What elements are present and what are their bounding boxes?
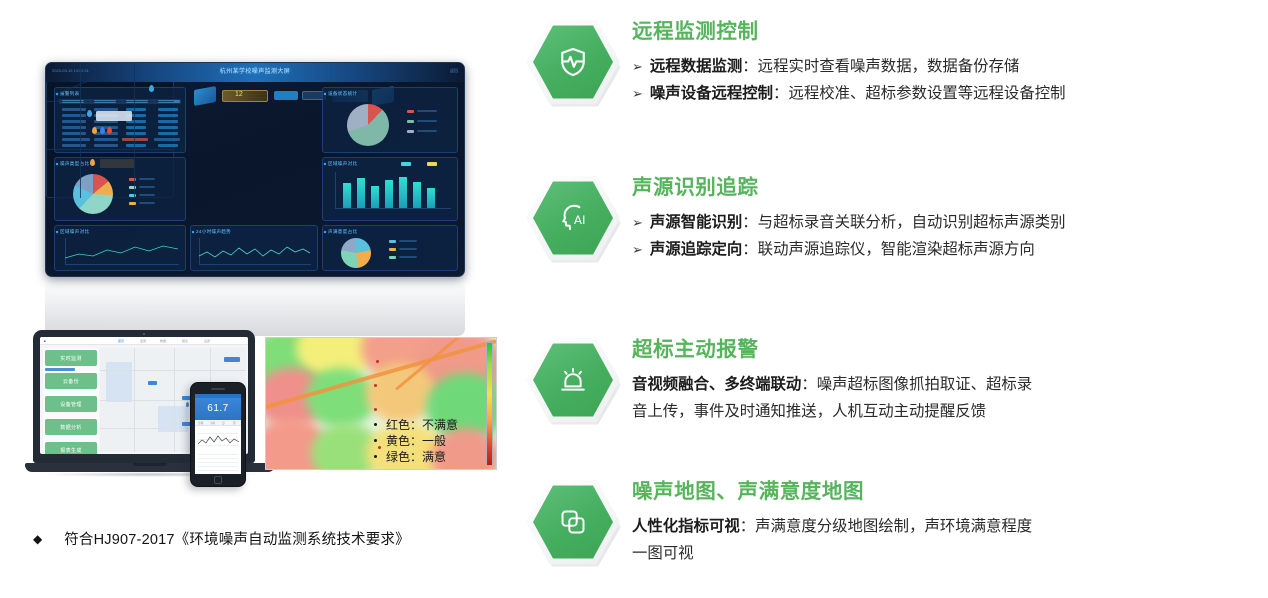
feature-remote-monitoring: 远程监测控制 ➢远程数据监测：远程实时查看噪声数据，数据备份存储 ➢噪声设备远程…: [520, 12, 1268, 118]
sidebar-progress-bar: [45, 368, 75, 371]
feature-line: 一图可视: [632, 540, 1268, 567]
panel-line-chart-left-title: 区域噪声对比: [60, 229, 89, 235]
panel-satisfaction-pie-title: 声满意度占比: [328, 229, 357, 235]
phone-data-table: [198, 452, 238, 472]
webapp-nav-3[interactable]: 报表: [182, 339, 188, 343]
diamond-bullet-icon: ◆: [33, 532, 42, 546]
phone-mockup[interactable]: 61.7 分钟 小时 日 月: [190, 382, 246, 487]
arrow-bullet-icon: ➢: [632, 60, 643, 75]
feature-line: ➢声源智能识别：与超标录音关联分析，自动识别超标声源类别: [632, 209, 1268, 236]
feature-icon-hex-3: [520, 330, 632, 436]
pie-chart-satisfaction: [341, 238, 371, 268]
panel-bar-chart-title: 区域噪声对比: [328, 161, 357, 167]
ai-head-icon: AI: [556, 201, 590, 235]
map-action-button[interactable]: [224, 357, 240, 362]
legend-row: 黄色：一般: [374, 432, 458, 448]
feature-line-text: 噪声超标图像抓拍取证、超标录: [817, 375, 1032, 393]
feature-icon-hex-1: [520, 12, 632, 118]
map-tooltip: [96, 111, 132, 121]
feature-line: 音视频融合、多终端联动：噪声超标图像抓拍取证、超标录: [632, 371, 1268, 398]
map-marker[interactable]: [148, 381, 157, 385]
feature-line-sep: ：: [742, 213, 757, 231]
feature-line-sep: ：: [742, 240, 757, 258]
header-button-primary[interactable]: [274, 91, 298, 100]
header-stat-pill: [222, 90, 268, 102]
sound-satisfaction-heatmap[interactable]: 红色：不满意 黄色：一般 绿色：满意: [265, 337, 497, 470]
noise-monitoring-dashboard[interactable]: 2023-03-15 13:02:11 返回 杭州某学校噪声监测大屏 报警列表: [45, 62, 465, 277]
webapp-nav-4[interactable]: 设置: [204, 339, 210, 343]
left-visuals-column: 2023-03-15 13:02:11 返回 杭州某学校噪声监测大屏 报警列表: [0, 0, 520, 598]
panel-alarm-list-title: 报警列表: [60, 91, 80, 97]
feature-line-label: 声源智能识别: [650, 213, 742, 231]
feature-icon-hex-4: [520, 472, 632, 578]
phone-tabs[interactable]: 分钟 小时 日 月: [195, 420, 241, 426]
laptop-camera-icon: [143, 333, 145, 335]
arrow-bullet-icon: ➢: [632, 87, 643, 102]
panel-realtime-trend: 24小时噪声趋势: [190, 225, 318, 271]
feature-line: 人性化指标可视：声满意度分级地图绘制，声环境满意程度: [632, 513, 1268, 540]
feature-line-sep: ：: [801, 375, 816, 393]
webapp-nav-2[interactable]: 数据: [160, 339, 166, 343]
feature-line-sep: ：: [740, 517, 755, 535]
feature-line-text: 一图可视: [632, 544, 694, 562]
feature-line-label: 噪声设备远程控制: [650, 84, 773, 102]
feature-line: ➢声源追踪定向：联动声源追踪仪，智能渲染超标声源方向: [632, 236, 1268, 263]
header-stat-value: 12: [235, 91, 243, 98]
feature-line-text: 音上传，事件及时通知推送，人机互动主动提醒反馈: [632, 402, 986, 420]
legend-bullet-icon: [374, 455, 377, 458]
phone-tab-2[interactable]: 日: [222, 421, 225, 425]
feature-icon-hex-2: AI: [520, 168, 632, 274]
feature-exceedance-alarm: 超标主动报警 音视频融合、多终端联动：噪声超标图像抓拍取证、超标录 音上传，事件…: [520, 330, 1268, 436]
arrow-bullet-icon: ➢: [632, 243, 643, 258]
webapp-nav-0[interactable]: 首页: [118, 339, 124, 343]
phone-home-button[interactable]: [214, 476, 222, 484]
panel-bar-chart: 区域噪声对比: [322, 157, 458, 221]
feature-sound-source-identification: AI 声源识别追踪 ➢声源智能识别：与超标录音关联分析，自动识别超标声源类别 ➢…: [520, 168, 1268, 274]
sidebar-item-cloud-backup[interactable]: 云备份: [45, 373, 97, 389]
panel-line-chart-left: 区域噪声对比: [54, 225, 186, 271]
feature-line-label: 音视频融合、多终端联动: [632, 375, 801, 393]
feature-line-text: 声满意度分级地图绘制，声环境满意程度: [755, 517, 1032, 535]
legend-label-yellow: 黄色：一般: [386, 432, 446, 449]
feature-line-label: 人性化指标可视: [632, 517, 740, 535]
panel-device-status-title: 设备状态统计: [328, 91, 357, 97]
map-pin[interactable]: [92, 127, 97, 134]
phone-tab-1[interactable]: 小时: [210, 421, 215, 425]
panel-device-status: 设备状态统计: [322, 87, 458, 153]
phone-tab-0[interactable]: 分钟: [198, 421, 203, 425]
heatmap-color-scale: [486, 342, 493, 466]
webapp-topbar: ■ 首页 监测 数据 报表 设置: [40, 337, 248, 345]
feature-line-sep: ：: [773, 84, 788, 102]
webapp-sidebar: 实时监测 云备份 设备管理 数据分析 报表生成: [43, 348, 99, 452]
feature-title: 声源识别追踪: [632, 170, 1268, 200]
shield-pulse-icon: [556, 45, 590, 79]
feature-title: 远程监测控制: [632, 14, 1268, 44]
slide-root: 2023-03-15 13:02:11 返回 杭州某学校噪声监测大屏 报警列表: [0, 0, 1268, 598]
map-pin[interactable]: [149, 85, 154, 92]
map-pin[interactable]: [87, 110, 92, 117]
legend-bullet-icon: [374, 439, 377, 442]
feature-line-text: 远程校准、超标参数设置等远程设备控制: [788, 84, 1065, 102]
map-pin[interactable]: [100, 127, 105, 134]
legend-label-red: 红色：不满意: [386, 416, 458, 433]
footnote: ◆ 符合HJ907-2017《环境噪声自动监测系统技术要求》: [33, 528, 513, 549]
feature-line: ➢噪声设备远程控制：远程校准、超标参数设置等远程设备控制: [632, 80, 1268, 107]
phone-tab-3[interactable]: 月: [233, 421, 236, 425]
feature-line-label: 远程数据监测: [650, 57, 742, 75]
features-column: 远程监测控制 ➢远程数据监测：远程实时查看噪声数据，数据备份存储 ➢噪声设备远程…: [520, 0, 1268, 598]
feature-line-text: 联动声源追踪仪，智能渲染超标声源方向: [758, 240, 1035, 258]
arrow-bullet-icon: ➢: [632, 216, 643, 231]
svg-text:AI: AI: [574, 213, 586, 227]
dashboard-reflection: [45, 280, 465, 336]
feature-title: 噪声地图、声满意度地图: [632, 474, 1268, 504]
legend-row: 红色：不满意: [374, 416, 458, 432]
alarm-siren-icon: [556, 363, 590, 397]
layers-icon: [556, 505, 590, 539]
feature-line: 音上传，事件及时通知推送，人机互动主动提醒反馈: [632, 398, 1268, 425]
feature-line-text: 与超标录音关联分析，自动识别超标声源类别: [758, 213, 1066, 231]
footnote-text: 符合HJ907-2017《环境噪声自动监测系统技术要求》: [64, 528, 410, 549]
laptop-phone-mockup[interactable]: ■ 首页 监测 数据 报表 设置 实时监测 云备份 设备管理 数据分析 报表生成: [25, 330, 275, 490]
webapp-logo: ■: [44, 339, 46, 343]
webapp-nav-1[interactable]: 监测: [140, 339, 146, 343]
panel-satisfaction-pie: 声满意度占比: [322, 225, 458, 271]
legend-label-green: 绿色：满意: [386, 448, 446, 465]
sidebar-item-data-analysis[interactable]: 数据分析: [45, 419, 97, 435]
sidebar-item-report-gen[interactable]: 报表生成: [45, 442, 97, 454]
sidebar-item-device-mgmt[interactable]: 设备管理: [45, 396, 97, 412]
phone-speaker: [211, 388, 225, 390]
feature-line: ➢远程数据监测：远程实时查看噪声数据，数据备份存储: [632, 53, 1268, 80]
feature-line-text: 远程实时查看噪声数据，数据备份存储: [758, 57, 1020, 75]
legend-row: 绿色：满意: [374, 448, 458, 464]
map-pin[interactable]: [90, 159, 95, 166]
pie-chart-device-status: [347, 104, 389, 146]
legend-bullet-icon: [374, 423, 377, 426]
phone-screen: 61.7 分钟 小时 日 月: [195, 394, 241, 474]
feature-title: 超标主动报警: [632, 332, 1268, 362]
phone-noise-value: 61.7: [195, 403, 241, 414]
feature-line-label: 声源追踪定向: [650, 240, 742, 258]
map-pin[interactable]: [186, 402, 189, 407]
phone-trend-chart: [198, 428, 238, 450]
map-pin[interactable]: [107, 127, 112, 134]
header-cube-left: [194, 86, 216, 106]
pie-chart-noise-source: [73, 174, 113, 214]
panel-realtime-trend-title: 24小时噪声趋势: [196, 229, 231, 235]
dashboard-title: 杭州某学校噪声监测大屏: [46, 66, 464, 75]
feature-noise-map: 噪声地图、声满意度地图 人性化指标可视：声满意度分级地图绘制，声环境满意程度 一…: [520, 472, 1268, 578]
panel-noise-source-title: 噪声类型占比: [60, 161, 89, 167]
sidebar-item-realtime[interactable]: 实时监测: [45, 350, 97, 366]
feature-line-sep: ：: [742, 57, 757, 75]
heatmap-legend: 红色：不满意 黄色：一般 绿色：满意: [374, 416, 458, 464]
